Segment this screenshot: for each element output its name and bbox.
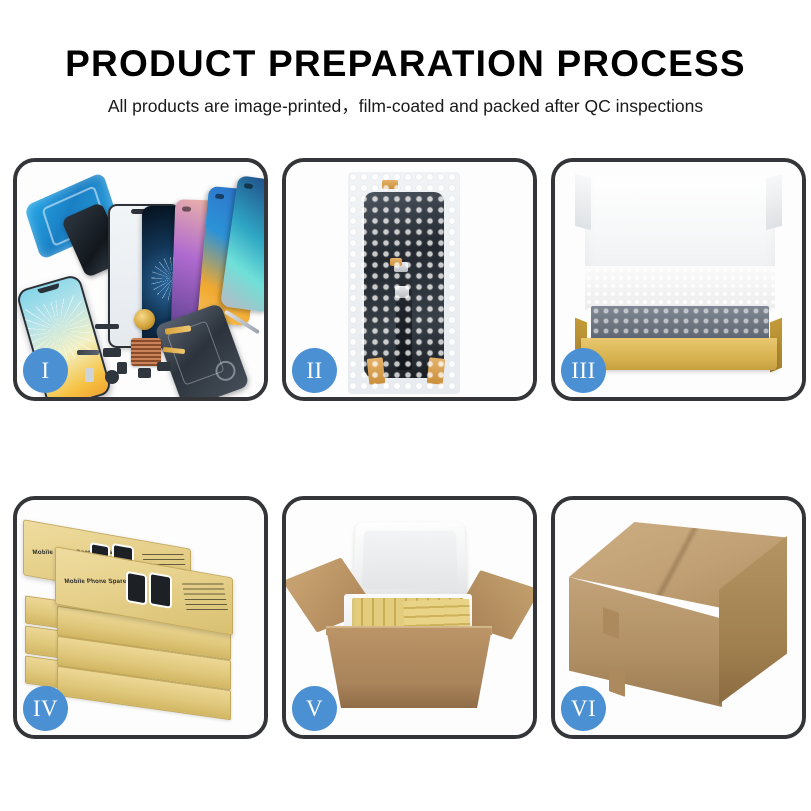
speaker-module-icon — [134, 309, 155, 330]
box-brand-label: Mobile Phone Spare Parts — [64, 578, 145, 585]
tape-bottom-right-icon — [427, 357, 446, 385]
tempered-glass-panel-icon — [108, 204, 180, 348]
shipping-carton-open-icon — [326, 628, 492, 708]
carton-lip-icon — [326, 626, 492, 635]
camera-module-icon — [138, 368, 151, 378]
step-numeral-badge-4: IV — [23, 686, 68, 731]
page-title: PRODUCT PREPARATION PROCESS — [0, 0, 811, 85]
box-product-photo — [114, 545, 132, 576]
stacked-box — [57, 606, 231, 660]
process-step-panel-6: VI — [551, 496, 806, 739]
home-button-icon — [105, 370, 119, 384]
page-header: PRODUCT PREPARATION PROCESS All products… — [0, 0, 811, 140]
box-brand-label: Mobile Phone Spare Parts — [32, 549, 113, 556]
foam-insert-icon — [344, 594, 472, 648]
flex-cable-icon — [165, 325, 192, 335]
cracked-display-icon — [142, 206, 204, 346]
carton-tape-upper-icon — [603, 607, 619, 639]
antenna-cable-icon — [77, 350, 99, 355]
step-numeral-badge-6: VI — [561, 686, 606, 731]
phone-chassis-icon — [154, 303, 250, 397]
process-step-panel-4: Mobile Phone Spare Parts Mobile Phone Sp… — [13, 496, 268, 739]
yellow-boxes-stack-icon — [403, 599, 470, 643]
bubble-texture-overlay — [348, 172, 460, 394]
step-numeral-badge-3: III — [561, 348, 606, 393]
carton-flap-right-icon — [451, 570, 533, 640]
carton-right-face — [719, 536, 787, 704]
page-subtitle: All products are image-printed，film-coat… — [0, 85, 811, 117]
screen-protector-film-icon — [24, 172, 120, 261]
tape-bottom-left-icon — [367, 357, 386, 385]
stacked-box — [57, 666, 231, 720]
step-numeral-badge-5: V — [292, 686, 337, 731]
carton-flap-left-icon — [286, 557, 376, 632]
phone-display-orange-blue-icon — [197, 186, 261, 326]
connector-part-icon — [103, 348, 121, 357]
earpiece-mesh-icon — [95, 324, 119, 329]
carton-top-seam — [569, 522, 787, 608]
phone-display-purple-icon — [171, 199, 228, 337]
button-part-icon — [117, 362, 127, 374]
foam-sheet-icon — [585, 266, 775, 310]
wrapped-connector-icon — [394, 262, 408, 272]
vibrator-part-icon — [157, 362, 171, 371]
box-lid-flap-right-icon — [766, 174, 782, 230]
sealed-carton-icon — [569, 522, 787, 716]
tape-middle-icon — [390, 258, 402, 266]
bubble-wrapped-contents-icon — [591, 306, 769, 342]
bubble-bag-icon — [348, 172, 460, 394]
stacked-box — [25, 625, 147, 670]
box-product-photo — [92, 544, 108, 573]
box-product-photo — [128, 573, 145, 603]
labelled-box-lid: Mobile Phone Spare Parts — [55, 546, 233, 635]
dark-phone-under-film-icon — [61, 202, 127, 278]
kraft-box-side-right-icon — [770, 318, 782, 373]
wrapped-screen-assembly-icon — [364, 192, 444, 378]
process-step-panel-1: I — [13, 158, 268, 401]
carton-top-face — [569, 522, 787, 608]
stacked-box — [25, 595, 147, 640]
wrapped-ic-chip-icon — [395, 286, 409, 298]
copper-shield-icon — [131, 338, 161, 366]
process-step-panel-2: II — [282, 158, 537, 401]
wrapped-flex-cable-icon — [396, 270, 412, 370]
labelled-box-lid: Mobile Phone Spare Parts — [23, 519, 191, 605]
box-lid-icon — [585, 176, 775, 308]
box-spec-text-lines — [142, 554, 188, 580]
step-numeral-badge-1: I — [23, 348, 68, 393]
carton-tape-lower-icon — [609, 667, 625, 697]
phone-display-teal-icon — [220, 175, 264, 313]
process-steps-grid: I II III — [13, 158, 798, 739]
process-step-panel-5: V — [282, 496, 537, 739]
tape-top-icon — [382, 180, 398, 189]
foam-lid-icon — [352, 522, 468, 598]
kraft-box-front-icon — [581, 338, 777, 370]
box-lid-flap-left-icon — [575, 174, 591, 230]
box-spec-text-lines — [182, 584, 228, 610]
process-step-panel-3: III — [551, 158, 806, 401]
step-numeral-badge-2: II — [292, 348, 337, 393]
box-product-photo — [151, 574, 170, 606]
flex-cable-secondary-icon — [163, 347, 185, 354]
stacked-box — [57, 636, 231, 690]
tweezers-icon — [224, 310, 260, 335]
sim-tray-icon — [85, 368, 94, 382]
yellow-boxes-row-icon — [352, 598, 464, 642]
